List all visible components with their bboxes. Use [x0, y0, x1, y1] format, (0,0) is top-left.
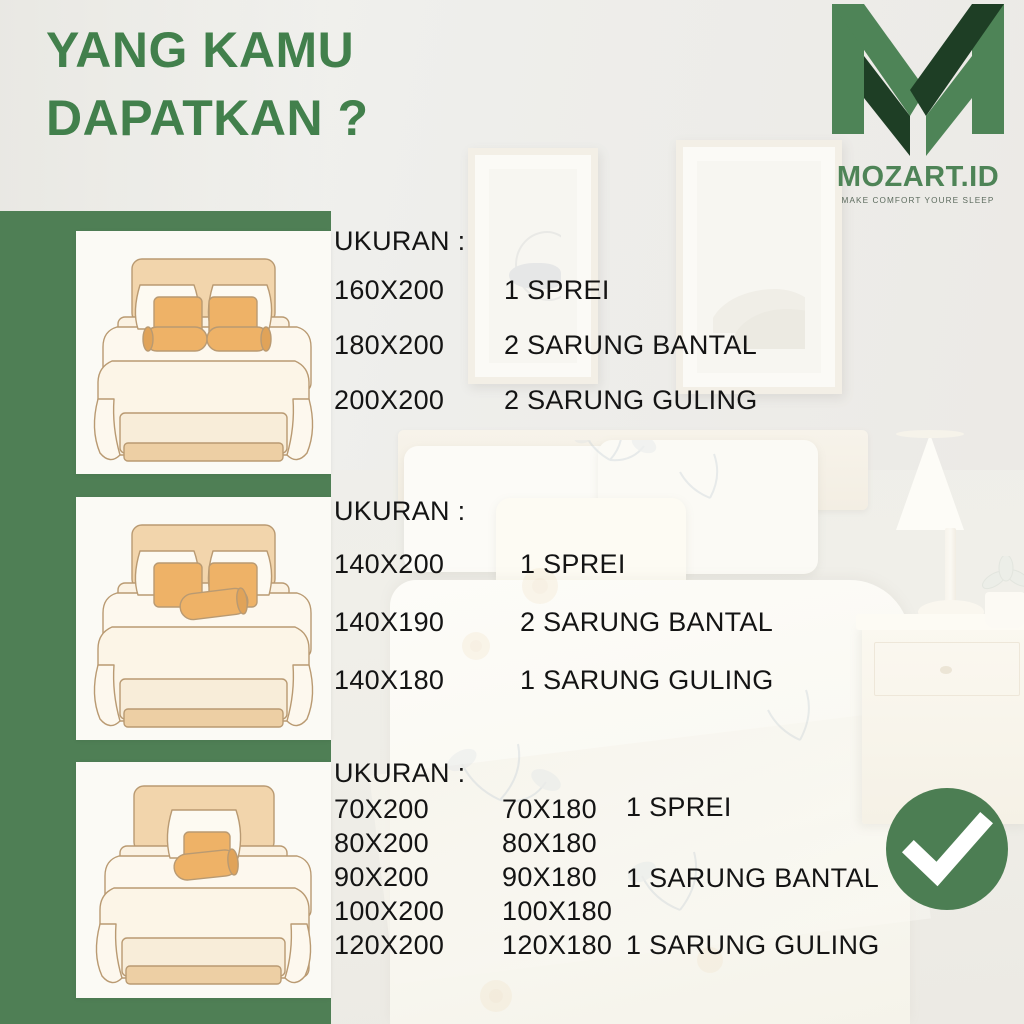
headline-line-2: DAPATKAN ? — [46, 84, 516, 152]
block-1-title: UKURAN : — [334, 226, 758, 257]
nightstand-knob — [940, 666, 952, 674]
block-1-row-1: 160X200 1 SPREI — [334, 275, 758, 306]
item-label: 1 SPREI — [520, 549, 626, 580]
size-label: 160X200 — [334, 275, 504, 306]
item-label: 1 SPREI — [626, 794, 880, 821]
double-bed-two-bolsters-icon — [76, 231, 331, 474]
bed-illustration-card-1 — [76, 231, 331, 474]
bed-illustration-card-2 — [76, 497, 331, 740]
double-bed-one-bolster-icon — [76, 497, 331, 740]
size-label: 100X180 — [502, 894, 612, 928]
bed-illustration-card-3 — [76, 762, 331, 998]
size-label: 120X180 — [502, 928, 612, 962]
potted-plant-leaves-icon — [978, 556, 1024, 600]
size-label: 200X200 — [334, 385, 504, 416]
item-label: 2 SARUNG BANTAL — [504, 330, 757, 361]
headline-line-1: YANG KAMU — [46, 16, 516, 84]
block-2-row-3: 140X180 1 SARUNG GULING — [334, 665, 774, 696]
size-label: 120X200 — [334, 928, 444, 962]
table-lamp-shade-top — [896, 430, 964, 438]
headline: YANG KAMU DAPATKAN ? — [46, 16, 516, 152]
size-label: 180X200 — [334, 330, 504, 361]
size-label: 100X200 — [334, 894, 444, 928]
item-label: 1 SARUNG GULING — [520, 665, 774, 696]
item-label: 1 SPREI — [504, 275, 610, 306]
table-lamp-stem — [945, 528, 956, 610]
block-1-row-3: 200X200 2 SARUNG GULING — [334, 385, 758, 416]
size-label: 140X200 — [334, 549, 520, 580]
brand-name: MOZART.ID — [818, 161, 1018, 194]
size-label: 80X180 — [502, 826, 612, 860]
size-block-1: UKURAN : 160X200 1 SPREI 180X200 2 SARUN… — [334, 226, 758, 440]
item-label: 1 SARUNG GULING — [626, 932, 880, 959]
size-label: 90X200 — [334, 860, 444, 894]
poster-canvas: YANG KAMU DAPATKAN ? MOZART.ID MAKE COMF… — [0, 0, 1024, 1024]
size-label: 140X180 — [334, 665, 520, 696]
block-2-row-2: 140X190 2 SARUNG BANTAL — [334, 607, 774, 638]
block-2-row-1: 140X200 1 SPREI — [334, 549, 774, 580]
size-block-2: UKURAN : 140X200 1 SPREI 140X190 2 SARUN… — [334, 496, 774, 723]
block-3-column-180: 70X180 80X180 90X180 100X180 120X180 — [502, 792, 612, 962]
block-3-column-items: 1 SPREI 1 SARUNG BANTAL 1 SARUNG GULING — [626, 792, 880, 959]
item-label: 1 SARUNG BANTAL — [626, 865, 880, 892]
single-bed-icon — [76, 762, 331, 998]
size-label: 80X200 — [334, 826, 444, 860]
size-label: 140X190 — [334, 607, 520, 638]
check-mark-badge-icon — [884, 786, 1010, 912]
brand-tagline: MAKE COMFORT YOURE SLEEP — [818, 196, 1018, 205]
block-2-title: UKURAN : — [334, 496, 774, 527]
m-monogram-icon — [818, 4, 1018, 162]
size-block-3: UKURAN : 70X200 80X200 90X200 100X200 12… — [334, 758, 465, 992]
item-label: 2 SARUNG GULING — [504, 385, 758, 416]
brand-logo: MOZART.ID MAKE COMFORT YOURE SLEEP — [818, 4, 1018, 205]
size-label: 70X200 — [334, 792, 444, 826]
block-3-title: UKURAN : — [334, 758, 465, 789]
block-3-column-200: 70X200 80X200 90X200 100X200 120X200 — [334, 792, 444, 962]
table-lamp-shade — [896, 434, 964, 530]
block-3-grid: 70X200 80X200 90X200 100X200 120X200 70X… — [334, 792, 465, 992]
block-1-row-2: 180X200 2 SARUNG BANTAL — [334, 330, 758, 361]
item-label: 2 SARUNG BANTAL — [520, 607, 773, 638]
size-label: 90X180 — [502, 860, 612, 894]
size-label: 70X180 — [502, 792, 612, 826]
